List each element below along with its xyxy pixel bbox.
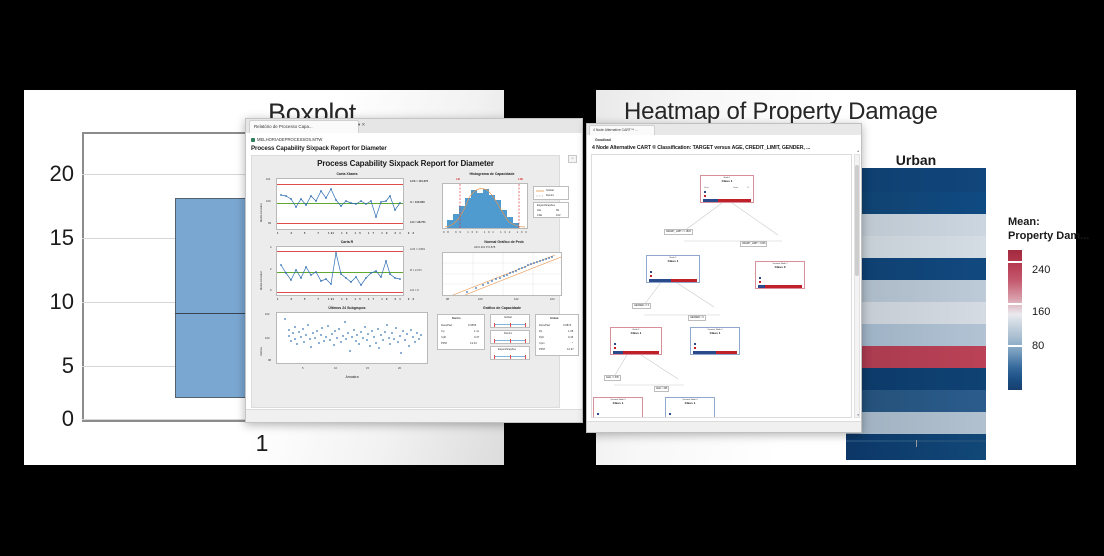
cart-split-label-5: AGE <= 335: [604, 375, 621, 381]
cart-bar-class0: [703, 199, 718, 202]
minitab-collapse-button[interactable]: ▫: [568, 155, 577, 163]
r-chart-title: Carta R: [287, 240, 407, 244]
cart-swatch-class0: [694, 343, 696, 345]
cart-node-bar: [693, 351, 737, 354]
cart-swatch-class0: [650, 271, 652, 273]
cart-bar-class1: [671, 279, 697, 282]
cart-status-bar: [587, 421, 861, 432]
xbar-chart-panel: [276, 178, 404, 230]
capability-band-global: Global: [490, 314, 530, 328]
cart-bar-class0: [613, 351, 623, 354]
within-row-3-label: PPM: [441, 342, 447, 345]
cart-tab[interactable]: 4 Node Alternative CART™ ...: [589, 125, 655, 135]
histogram-lie-label: LIE: [456, 178, 460, 181]
cart-node-class: Class 1: [647, 259, 699, 263]
band-mark: [510, 339, 511, 343]
cart-node-class: Class 1: [611, 331, 661, 335]
heatmap-axis-tick: [916, 440, 917, 447]
subgroup-plot-title: Últimos 24 Subgrupos: [287, 306, 407, 310]
cart-swatch-class0: [614, 343, 616, 345]
cart-bar-class1: [718, 199, 751, 202]
cart-node-bar: [649, 279, 697, 282]
within-row-2-label: CpK: [441, 336, 446, 339]
cart-bar-class1: [716, 351, 737, 354]
cart-dataset-label: Goodbad: [595, 138, 611, 142]
capability-overall-box: Global DesvPad 0.9873 Pp 1.08 PpK 0.36 C…: [535, 314, 579, 356]
minitab-worksheet-name: MELHORIADEPROCESSOS.MTW: [251, 137, 322, 142]
heatmap-ramp-divider: [1008, 345, 1022, 347]
heatmap-cell: [846, 346, 986, 368]
heatmap-legend-tick-240: 240: [1032, 264, 1050, 276]
heatmap-cell: [846, 168, 986, 192]
heatmap-cell: [846, 258, 986, 280]
within-row-1-label: Cp: [441, 330, 444, 333]
scroll-down-arrow-icon[interactable]: ▾: [857, 414, 859, 418]
minitab-graph-title: Process Capability Sixpack Report for Di…: [252, 159, 559, 168]
probability-xtick-104: 104: [550, 298, 554, 301]
r-chart-panel: [276, 246, 404, 296]
histogram-lse-label: LSE: [518, 178, 523, 181]
heatmap-cell: [846, 214, 986, 236]
overall-row-4-label: PPM: [539, 348, 545, 351]
cart-swatch-class1: [669, 417, 671, 418]
band-mark: [525, 355, 526, 359]
boxplot-ytick-10: 10: [50, 289, 74, 315]
histogram-panel: [442, 183, 528, 229]
minitab-command-title: Process Capability Sixpack Report for Di…: [251, 145, 387, 152]
minitab-graph-area[interactable]: Process Capability Sixpack Report for Di…: [251, 155, 560, 408]
subgroup-xtick-20: 20: [398, 367, 401, 370]
overall-row-3-label: Cpm: [539, 342, 545, 345]
cart-split-label-2: CREDIT_LIMIT > 1545: [740, 241, 767, 247]
minitab-body: MELHORIADEPROCESSOS.MTW Process Capabili…: [246, 133, 582, 422]
cart-node-2[interactable]: Node 2 Class 1: [646, 255, 700, 283]
xbar-series: [277, 179, 403, 229]
cart-split-label-3: GENDER <= 0: [632, 303, 651, 309]
heatmap-color-ramp: [1008, 250, 1022, 390]
r-ylabel: Média Amostral: [260, 271, 263, 290]
within-header: Dentro: [452, 317, 461, 320]
subgroup-ylabel: Valores: [260, 347, 263, 356]
presentation-stage: Boxplot 20 15 10 5 0 1 Heatmap of Proper…: [0, 0, 1104, 556]
overall-header: Global: [550, 317, 558, 320]
histogram-xticks: 98 99 100 101 102 103: [443, 231, 529, 234]
cart-node-class: Class 1: [666, 401, 714, 405]
r-ytick-0: 0: [270, 289, 272, 292]
r-ytick-2: 2: [270, 268, 272, 271]
subgroup-xtick-10: 10: [334, 367, 337, 370]
overall-row-0-label: DesvPad: [539, 324, 550, 327]
r-series: [277, 247, 403, 295]
heatmap-grid: [846, 168, 986, 440]
cart-bar-class0: [693, 351, 716, 354]
band-mark: [510, 323, 511, 327]
histogram-spec-lse-value: 102: [556, 214, 560, 217]
subgroup-xlabel: Amostra: [307, 375, 397, 379]
cart-swatch-class1: [694, 347, 696, 349]
cart-swatch-class0: [597, 413, 599, 415]
probability-points: [443, 253, 561, 295]
minitab-tab-controls[interactable]: ▾ ✕: [358, 122, 365, 128]
xbar-chart-title: Carta Xbarra: [287, 172, 407, 176]
within-row-2-value: 0.37: [474, 336, 479, 339]
heatmap-legend-line2: Property Dam...: [1008, 230, 1104, 244]
subgroup-xtick-15: 15: [366, 367, 369, 370]
subgroup-ytick-102: 102: [265, 313, 269, 316]
heatmap-cell: [846, 368, 986, 390]
heatmap-cell: [846, 324, 986, 346]
cart-swatch-class0: [704, 191, 706, 193]
band-line-spec: [494, 356, 526, 357]
boxplot-ytick-15: 15: [50, 225, 74, 251]
histogram-spec-lie-label: LIE: [537, 209, 541, 212]
heatmap-legend-line1: Mean:: [1008, 216, 1104, 230]
xbar-ytick-99: 99: [268, 222, 271, 225]
cart-node-3[interactable]: Node 3 Class 1: [610, 327, 662, 355]
histogram-bars: [443, 184, 527, 228]
xbar-ytick-101: 101: [266, 178, 270, 181]
cart-node-terminal-3[interactable]: Terminal Node 3 Class 1: [593, 397, 643, 418]
heatmap-legend-tick-160: 160: [1032, 306, 1050, 318]
r-center-label: R = 2.271: [410, 269, 422, 272]
band-mark: [525, 323, 526, 327]
heatmap-cell: [846, 192, 986, 214]
cart-bar-class0: [758, 285, 765, 288]
overall-row-4-value: 12.97: [567, 348, 574, 351]
within-row-0-label: DesvPad: [441, 324, 452, 327]
xbar-xticks-2: 11 13 15 17 19 21 23: [328, 232, 417, 235]
capability-band-spec: Especificações: [490, 346, 530, 360]
histogram-legend-box: Global Dentro: [533, 186, 569, 200]
cart-split-label-4: GENDER > 0: [688, 315, 706, 321]
band-line-global: [494, 324, 526, 325]
heatmap-cell: [846, 280, 986, 302]
probability-plot-subtitle: AD:0.201 P:0.878: [474, 246, 495, 249]
subgroup-ytick-100: 100: [265, 337, 269, 340]
overall-row-0-value: 0.9873: [563, 324, 571, 327]
band-mark: [494, 323, 495, 327]
cart-swatch-class1: [650, 275, 652, 277]
histogram-spec-lie-value: 99: [556, 209, 559, 212]
cart-window[interactable]: 4 Node Alternative CART™ ... Goodbad 4 N…: [586, 123, 862, 433]
histogram-title: Histograma de Capacidade: [442, 172, 542, 176]
cart-swatch-class1: [597, 417, 599, 418]
band-label-global: Global: [504, 316, 512, 319]
within-row-3-value: 13.43: [470, 342, 477, 345]
cart-node-class: Class 1: [691, 331, 739, 335]
overall-row-1-value: 1.08: [568, 330, 573, 333]
band-label-spec: Especificações: [498, 348, 516, 351]
cart-swatch-class0: [669, 413, 671, 415]
histogram-spec-title: Especificações: [537, 204, 555, 207]
cart-swatch-class1: [614, 347, 616, 349]
cart-node-root[interactable]: Node 1 Class 1 Class Count %: [700, 175, 754, 203]
cart-tabbar: 4 Node Alternative CART™ ...: [587, 124, 861, 135]
cart-node-terminal-1[interactable]: Terminal Node 1 Class 0: [755, 261, 805, 289]
cart-swatch-class0: [759, 277, 761, 279]
heatmap-color-scale: 240 160 80: [1008, 250, 1104, 390]
heatmap-ramp-divider: [1008, 261, 1022, 263]
cart-node-bar: [613, 351, 659, 354]
minitab-tabbar: Relatório de Processo Capa... ▾ ✕: [246, 119, 582, 133]
heatmap-cell: [846, 236, 986, 258]
cart-bar-class1: [623, 351, 659, 354]
subgroup-plot-panel: [276, 312, 428, 364]
cart-node-terminal-4[interactable]: Terminal Node 4 Class 1: [665, 397, 715, 418]
probability-plot-panel: [442, 252, 562, 296]
heatmap-cell: [846, 434, 986, 460]
capability-plot-title: Gráfico de Capacidade: [442, 306, 562, 310]
heatmap-ramp-divider: [1008, 303, 1022, 305]
heatmap-cell: [846, 302, 986, 324]
capability-band-within: Dentro: [490, 330, 530, 344]
overall-row-3-value: *: [572, 342, 573, 345]
cart-node-bar: [758, 285, 802, 288]
overall-row-1-label: Pp: [539, 330, 542, 333]
histogram-legend-global: Global: [546, 189, 554, 192]
cart-node-class: Class 1: [701, 179, 753, 183]
r-ytick-4: 4: [270, 246, 272, 249]
boxplot-ytick-5: 5: [62, 353, 74, 379]
subgroup-xtick-5: 5: [302, 367, 304, 370]
r-lcl-label: LCI = 0: [410, 289, 419, 292]
cart-body: Goodbad 4 Node Alternative CART ® Classi…: [587, 135, 861, 432]
cart-tree-canvas[interactable]: Node 1 Class 1 Class Count % CREDIT_LIMI…: [591, 154, 852, 418]
cart-node-legend-class: Class: [704, 187, 709, 189]
histogram-spec-lse-label: LSE: [537, 214, 542, 217]
histogram-legend-within: Dentro: [546, 194, 554, 197]
cart-vertical-scroll-thumb[interactable]: [855, 165, 859, 275]
band-mark: [525, 339, 526, 343]
minitab-tab[interactable]: Relatório de Processo Capa...: [249, 120, 359, 133]
heatmap-cell: [846, 390, 986, 412]
cart-split-label-1: CREDIT_LIMIT <= 1545: [664, 229, 693, 235]
xbar-ucl-label: LCS = 101.370: [410, 180, 428, 183]
cart-title: 4 Node Alternative CART ® Classification…: [592, 145, 810, 151]
probability-xtick-102: 102: [514, 298, 518, 301]
within-row-1-value: 1.11: [474, 330, 479, 333]
heatmap-legend-title: Mean: Property Dam...: [1008, 216, 1104, 244]
heatmap-slide-title: Heatmap of Property Damage: [624, 98, 938, 126]
cart-node-bar: [703, 199, 751, 202]
cart-split-label-6: AGE > 335: [654, 386, 669, 392]
cart-node-class: Class 1: [594, 401, 642, 405]
cart-vertical-scrollbar[interactable]: [854, 154, 860, 418]
boxplot-page-number: 1: [82, 430, 442, 457]
xbar-lcl-label: LCI = 98.751: [410, 221, 426, 224]
band-line-within: [494, 340, 526, 341]
minitab-status-bar: [246, 409, 582, 422]
heatmap-cell: [846, 412, 986, 434]
cart-node-legend-count: Count: [733, 187, 738, 189]
cart-node-legend-pct: %: [747, 187, 749, 189]
histogram-spec-box: Especificações LIE 99 LSE 102: [533, 202, 569, 218]
xbar-center-label: X = 100.060: [410, 201, 425, 204]
cart-node-class: Class 0: [756, 265, 804, 269]
cart-swatch-class1: [759, 281, 761, 283]
cart-bar-class0: [649, 279, 671, 282]
xbar-ylabel: Média Amostral: [260, 203, 263, 222]
boxplot-ytick-0: 0: [62, 406, 74, 432]
heatmap-column-label: Urban: [844, 152, 988, 168]
overall-row-2-label: PpK: [539, 336, 544, 339]
subgroup-points: [277, 313, 427, 363]
scroll-up-arrow-icon[interactable]: ▴: [857, 150, 859, 154]
xbar-ytick-100: 100: [266, 200, 270, 203]
within-row-0-value: 0.9566: [468, 324, 476, 327]
overall-row-2-value: 0.36: [568, 336, 573, 339]
r-ucl-label: LCS = 4.801: [410, 248, 425, 251]
heatmap-legend-tick-80: 80: [1032, 340, 1044, 352]
band-mark: [494, 355, 495, 359]
r-xticks-2: 11 13 15 17 19 21 23: [328, 298, 417, 301]
cart-bar-class1: [765, 285, 802, 288]
worksheet-icon: [251, 138, 255, 142]
probability-plot-title: Normal Gráfico de Prob: [444, 240, 564, 244]
band-label-within: Dentro: [504, 332, 512, 335]
subgroup-ytick-98: 98: [268, 359, 271, 362]
probability-xtick-100: 100: [478, 298, 482, 301]
minitab-window[interactable]: Relatório de Processo Capa... ▾ ✕ MELHOR…: [245, 118, 583, 423]
band-mark: [510, 355, 511, 359]
boxplot-ytick-20: 20: [50, 161, 74, 187]
capability-within-box: Dentro DesvPad 0.9566 Cp 1.11 CpK 0.37 P…: [437, 314, 485, 350]
cart-swatch-class1: [704, 195, 706, 197]
probability-xtick-98: 98: [446, 298, 449, 301]
cart-node-terminal-2[interactable]: Terminal Node 2 Class 1: [690, 327, 740, 355]
band-mark: [494, 339, 495, 343]
